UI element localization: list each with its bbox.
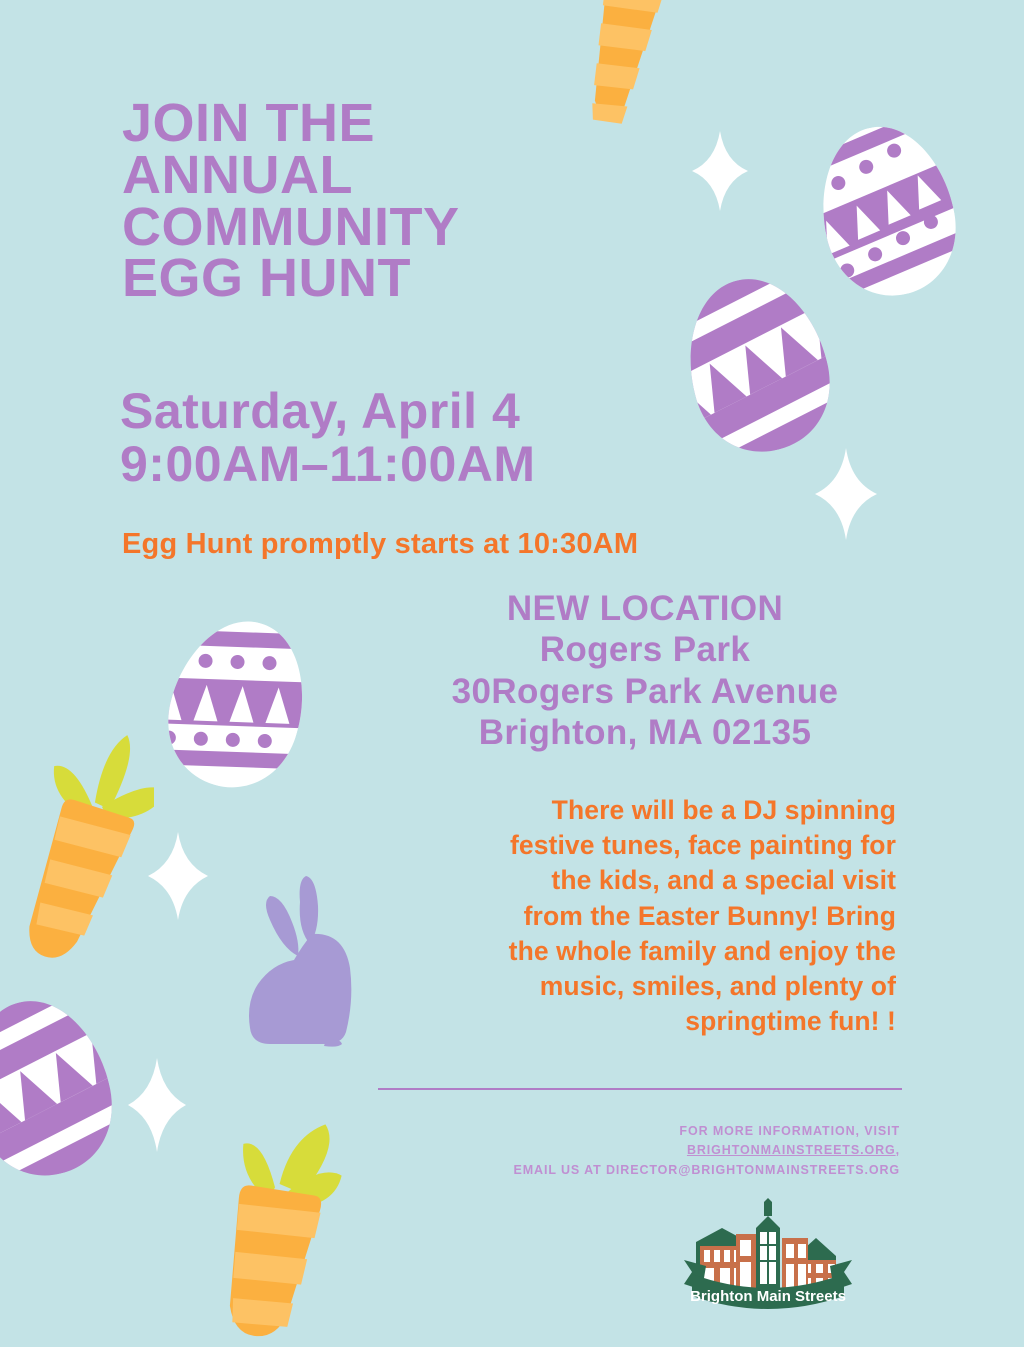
description-line: festive tunes, face painting for bbox=[396, 828, 896, 863]
location-block: NEW LOCATION Rogers Park 30Rogers Park A… bbox=[330, 588, 960, 753]
brighton-main-streets-logo: Brighton Main Streets bbox=[678, 1198, 858, 1318]
description-line: There will be a DJ spinning bbox=[396, 793, 896, 828]
start-time-note: Egg Hunt promptly starts at 10:30AM bbox=[122, 528, 638, 561]
footer-line-1: FOR MORE INFORMATION, VISIT bbox=[260, 1122, 900, 1141]
event-time: 9:00AM–11:00AM bbox=[120, 438, 536, 491]
headline-line-1: JOIN THE bbox=[122, 98, 682, 150]
location-title: NEW LOCATION bbox=[330, 588, 960, 629]
footer-line-2: BRIGHTONMAINSTREETS.ORG, bbox=[260, 1141, 900, 1160]
footer-line-3: EMAIL US AT DIRECTOR@BRIGHTONMAINSTREETS… bbox=[260, 1161, 900, 1180]
content-layer: JOIN THE ANNUAL COMMUNITY EGG HUNT Satur… bbox=[0, 0, 1024, 1325]
headline-line-2: ANNUAL bbox=[122, 150, 682, 202]
website-link[interactable]: BRIGHTONMAINSTREETS.ORG bbox=[687, 1143, 896, 1157]
footer-comma: , bbox=[896, 1143, 900, 1157]
location-venue: Rogers Park bbox=[330, 629, 960, 670]
logo-banner-text: Brighton Main Streets bbox=[690, 1288, 846, 1305]
location-city: Brighton, MA 02135 bbox=[330, 712, 960, 753]
location-street: 30Rogers Park Avenue bbox=[330, 671, 960, 712]
page-title: JOIN THE ANNUAL COMMUNITY EGG HUNT bbox=[122, 98, 682, 305]
flyer-canvas: JOIN THE ANNUAL COMMUNITY EGG HUNT Satur… bbox=[0, 0, 1024, 1325]
event-description: There will be a DJ spinning festive tune… bbox=[396, 793, 896, 1040]
description-line: the whole family and enjoy the bbox=[396, 934, 896, 969]
divider bbox=[378, 1088, 902, 1090]
description-line: the kids, and a special visit bbox=[396, 863, 896, 898]
description-line: from the Easter Bunny! Bring bbox=[396, 899, 896, 934]
headline-line-4: EGG HUNT bbox=[122, 253, 682, 305]
description-line: springtime fun! ! bbox=[396, 1004, 896, 1039]
event-datetime: Saturday, April 4 9:00AM–11:00AM bbox=[120, 385, 536, 491]
event-date: Saturday, April 4 bbox=[120, 385, 536, 438]
headline-line-3: COMMUNITY bbox=[122, 202, 682, 254]
footer-info: FOR MORE INFORMATION, VISIT BRIGHTONMAIN… bbox=[260, 1122, 900, 1180]
description-line: music, smiles, and plenty of bbox=[396, 969, 896, 1004]
